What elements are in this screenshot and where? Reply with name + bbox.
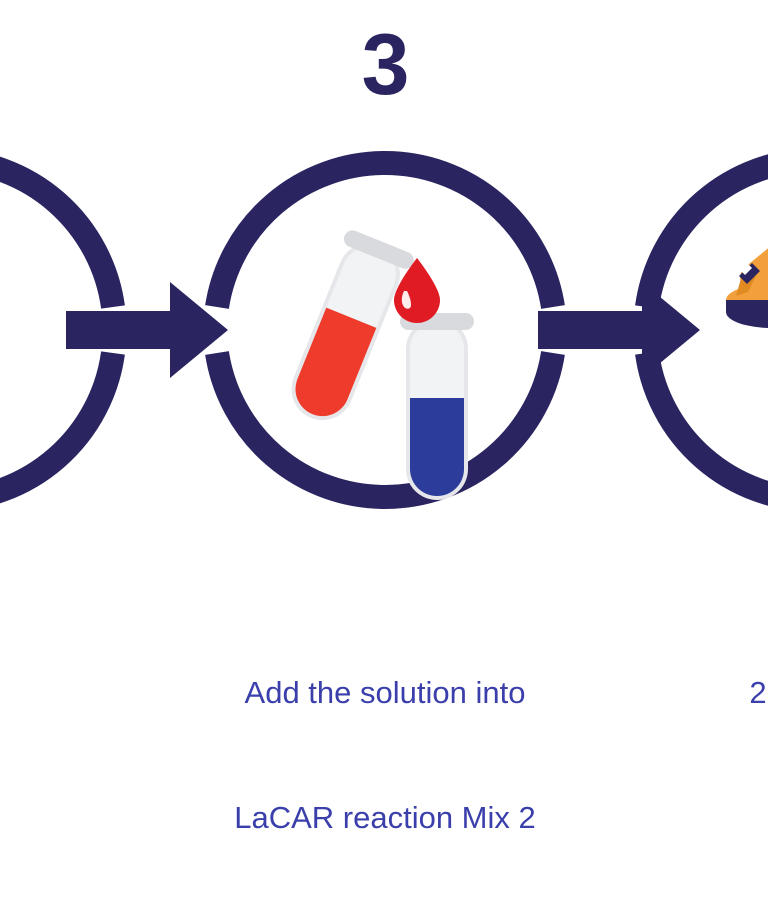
step-number: 3 bbox=[285, 22, 485, 108]
caption-right-fragment: 2 bbox=[648, 672, 768, 714]
caption-line-2: LaCAR reaction Mix 2 bbox=[155, 797, 615, 839]
pipette-rack-band bbox=[726, 300, 768, 328]
step-caption-center: Add the solution into LaCAR reaction Mix… bbox=[155, 588, 615, 923]
infographic-canvas: 3 Add the solution into LaCAR reaction M… bbox=[0, 0, 768, 768]
step-caption-right: 2 bbox=[648, 588, 768, 797]
caption-line-1: Add the solution into bbox=[155, 672, 615, 714]
pipette-group bbox=[726, 218, 768, 328]
